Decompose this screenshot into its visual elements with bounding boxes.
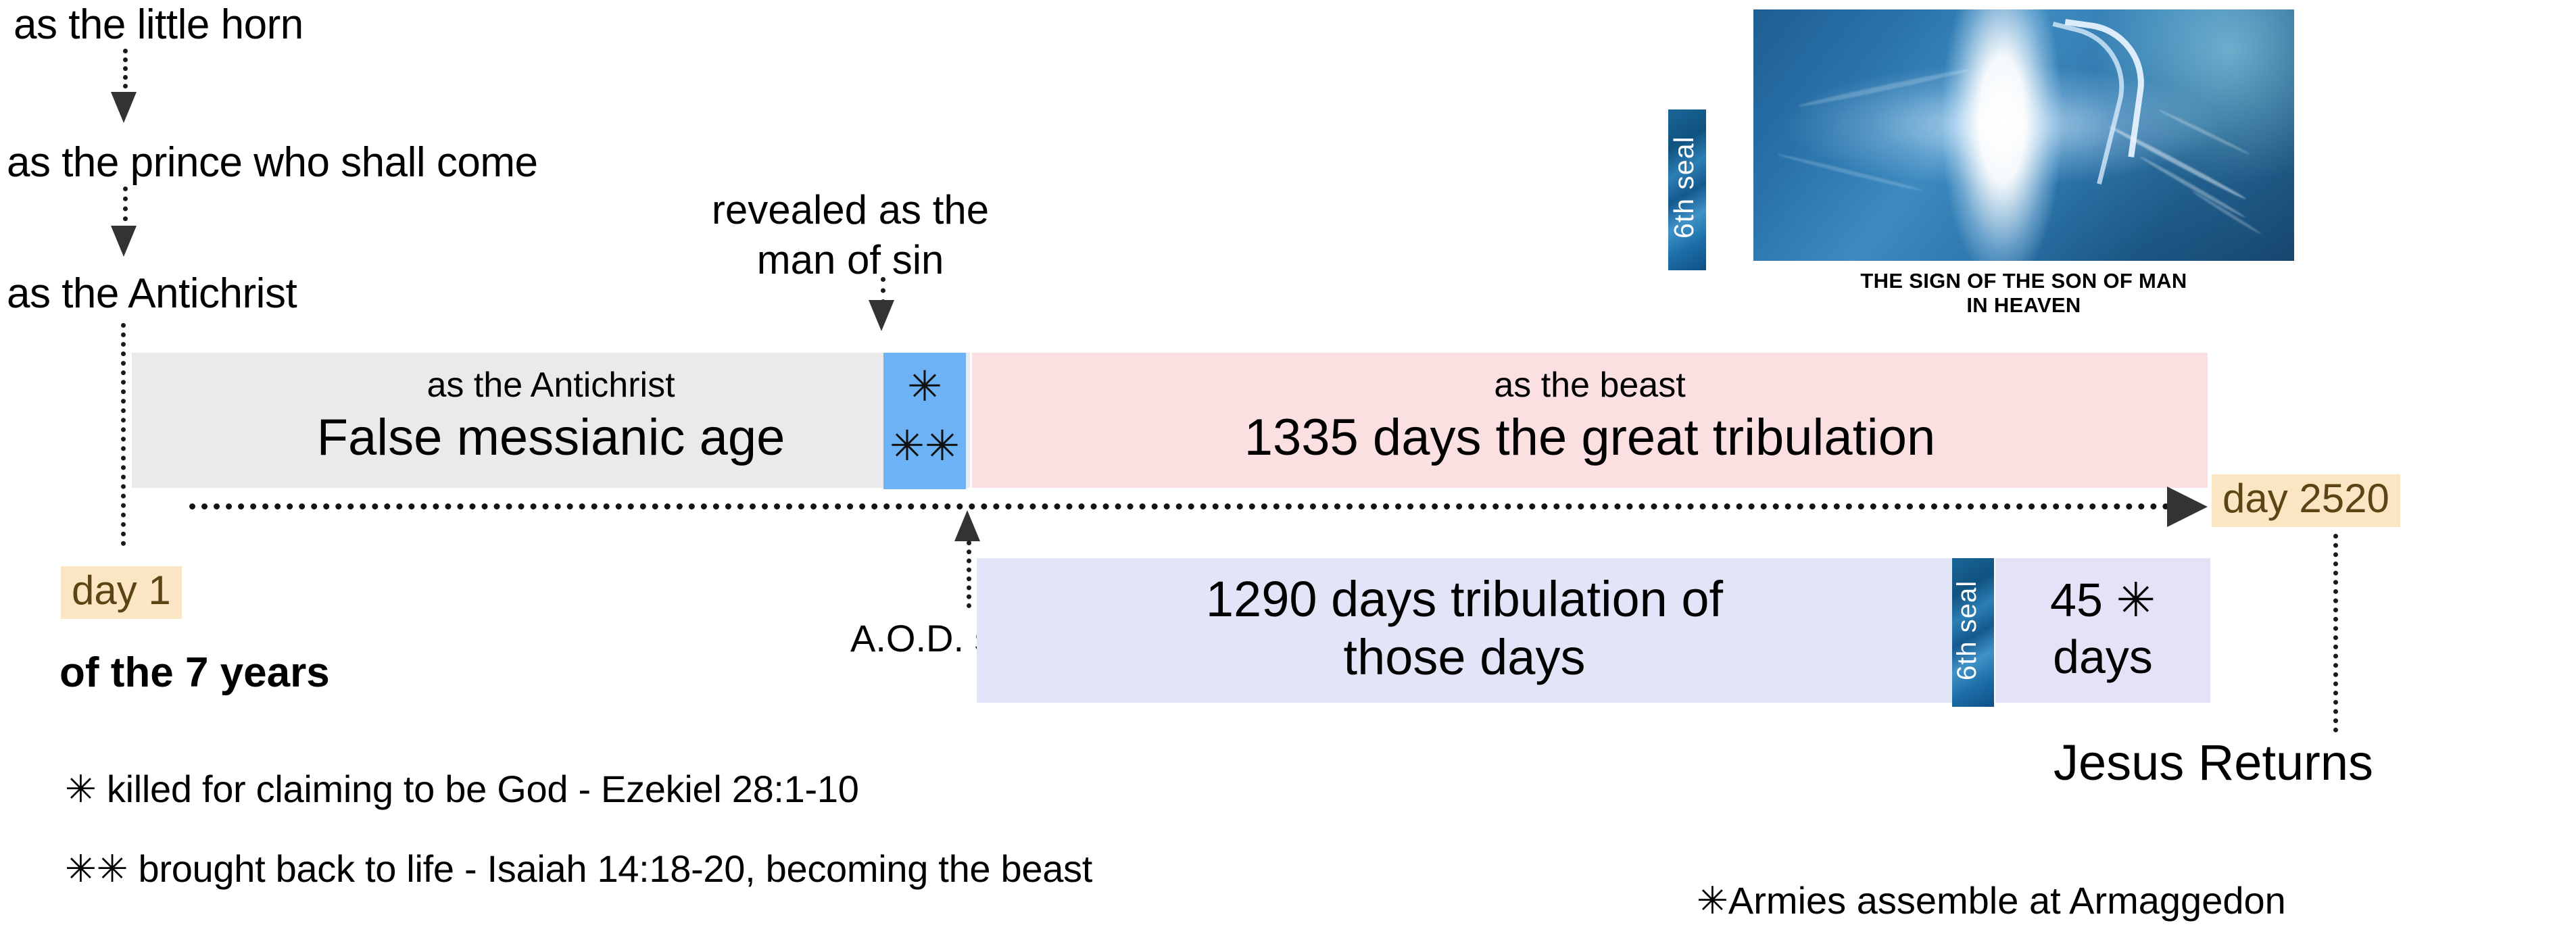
seal-label-bottom: 6th seal	[1952, 558, 1994, 707]
aod-connector-dotted-line	[967, 541, 971, 608]
cascade-line-antichrist: as the Antichrist	[7, 273, 297, 315]
revealed-note-line2: man of sin	[675, 238, 1026, 282]
segment-grey-subtitle: False messianic age	[132, 412, 970, 464]
segment-blue-mark-bottom: ✳✳	[883, 426, 966, 468]
jesus-returns-label: Jesus Returns	[2053, 738, 2373, 788]
cascade-arrow-2-icon	[111, 226, 137, 257]
footnote-one: ✳ killed for claiming to be God - Ezekie…	[65, 770, 859, 808]
day-1-subtext: of the 7 years	[59, 649, 330, 697]
main-timeline-arrowhead-icon	[2167, 487, 2208, 527]
day-2520-vertical-dotted-line	[2333, 534, 2338, 732]
sign-of-son-of-man-image	[1753, 9, 2294, 261]
cascade-connector-1	[123, 49, 128, 97]
heaven-caption-line2: IN HEAVEN	[1753, 293, 2294, 318]
aod-arrow-icon	[954, 510, 980, 541]
footnote-three: ✳Armies assemble at Armaggedon	[1697, 878, 2286, 923]
day-2520-chip: day 2520	[2212, 474, 2400, 527]
timeline-segment-great-tribulation[interactable]: as the beast 1335 days the great tribula…	[972, 353, 2208, 488]
segment-45-line1: 45 ✳	[1995, 576, 2210, 626]
cascade-arrow-1-icon	[111, 92, 137, 123]
timeline-segment-45-days[interactable]: 45 ✳ days	[1995, 558, 2210, 703]
segment-1290-line1: 1290 days tribulation of	[977, 573, 1952, 626]
segment-45-line2: days	[1995, 632, 2210, 682]
segment-blue-mark-top: ✳	[883, 366, 966, 408]
timeline-segment-false-messianic-age[interactable]: as the Antichrist False messianic age	[132, 353, 970, 488]
segment-pink-title: as the beast	[972, 368, 2208, 403]
segment-grey-title: as the Antichrist	[132, 368, 970, 403]
segment-1290-line2: those days	[977, 631, 1952, 684]
footnote-two: ✳✳ brought back to life - Isaiah 14:18-2…	[65, 850, 1092, 888]
timeline-segment-1290-days[interactable]: 1290 days tribulation of those days	[977, 558, 1952, 703]
start-vertical-dotted-line	[121, 323, 126, 546]
heaven-caption-line1: THE SIGN OF THE SON OF MAN	[1753, 269, 2294, 294]
seal-label-top: 6th seal	[1668, 109, 1706, 270]
day-1-chip: day 1	[61, 566, 182, 619]
cascade-connector-2	[123, 186, 128, 231]
segment-pink-subtitle: 1335 days the great tribulation	[972, 412, 2208, 464]
revealed-note-line1: revealed as the	[675, 188, 1026, 232]
revealed-note-arrow-icon	[869, 300, 894, 331]
cascade-line-prince: as the prince who shall come	[7, 142, 538, 184]
main-timeline-dotted-line	[189, 503, 2170, 509]
cascade-line-little-horn: as the little horn	[14, 4, 303, 46]
timeline-segment-death-resurrection[interactable]: ✳ ✳✳	[883, 353, 966, 489]
